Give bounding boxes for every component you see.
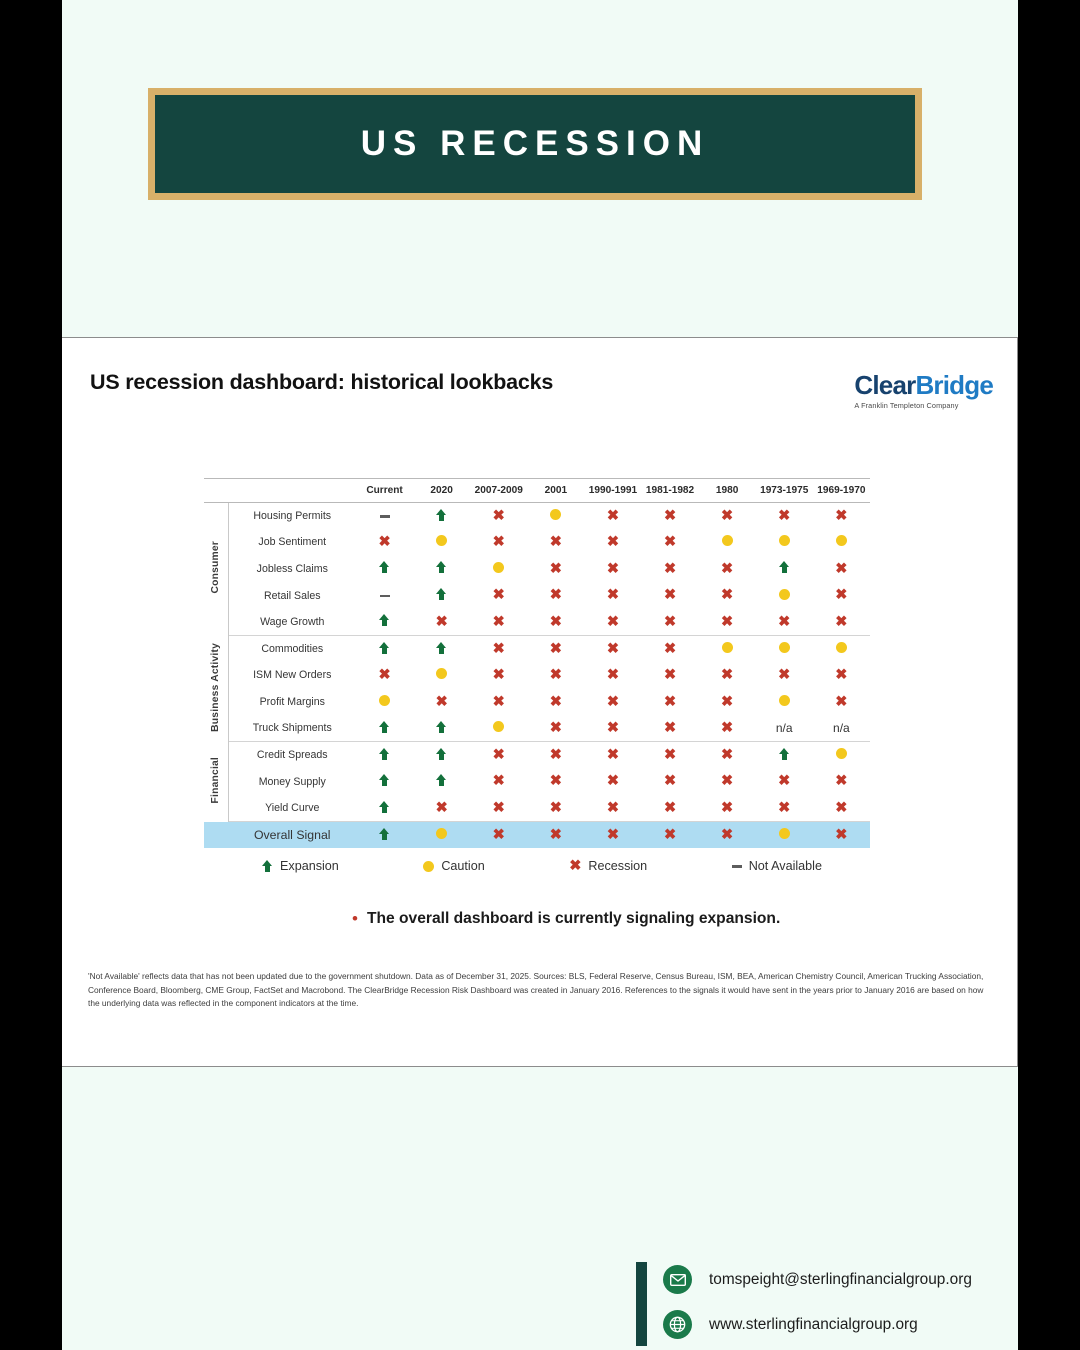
cell-2: ✖: [470, 742, 527, 769]
cell-2: ✖: [470, 609, 527, 636]
table-row: Money Supply✖✖✖✖✖✖✖: [204, 768, 870, 795]
na-label: n/a: [776, 721, 793, 735]
logo-tagline: A Franklin Templeton Company: [854, 401, 993, 410]
table-row: Retail Sales✖✖✖✖✖✖: [204, 582, 870, 609]
recession-icon: ✖: [550, 774, 562, 789]
column-header-8: 1969-1970: [813, 479, 870, 503]
overall-cell-6: ✖: [699, 822, 756, 849]
recession-icon: ✖: [550, 695, 562, 710]
cell-3: ✖: [527, 609, 584, 636]
recession-icon: ✖: [835, 695, 847, 710]
cell-8: ✖: [813, 662, 870, 689]
recession-icon: ✖: [721, 801, 733, 816]
cell-2: ✖: [470, 795, 527, 822]
na-label: n/a: [833, 721, 850, 735]
recession-icon: ✖: [778, 801, 790, 816]
row-group-business-activity: Business Activity: [204, 635, 228, 741]
column-header-7: 1973-1975: [756, 479, 813, 503]
cell-6: ✖: [699, 662, 756, 689]
cell-3: ✖: [527, 768, 584, 795]
caution-icon: [779, 828, 790, 839]
recession-icon: ✖: [436, 801, 448, 816]
table-row: Profit Margins✖✖✖✖✖✖✖: [204, 689, 870, 716]
expansion-icon: [436, 748, 447, 760]
cell-5: ✖: [641, 715, 698, 742]
caution-icon: [779, 589, 790, 600]
recession-icon: ✖: [493, 509, 505, 524]
cell-1: [413, 556, 470, 583]
indicator-label: Profit Margins: [228, 689, 356, 716]
recession-icon: ✖: [778, 668, 790, 683]
overall-cell-5: ✖: [641, 822, 698, 849]
recession-icon: ✖: [664, 801, 676, 816]
grid-header: Current20202007-200920011990-19911981-19…: [204, 479, 870, 503]
recession-icon: ✖: [664, 509, 676, 524]
globe-icon: [663, 1310, 692, 1339]
cell-7: [756, 689, 813, 716]
cell-1: [413, 662, 470, 689]
expansion-icon: [379, 774, 390, 786]
cell-6: ✖: [699, 689, 756, 716]
recession-icon: ✖: [721, 774, 733, 789]
cell-8: ✖: [813, 795, 870, 822]
cell-7: ✖: [756, 768, 813, 795]
recession-icon: ✖: [550, 535, 562, 550]
recession-icon: ✖: [607, 588, 619, 603]
cell-0: [356, 768, 413, 795]
expansion-icon: [379, 721, 390, 733]
dashboard-slide: US recession dashboard: historical lookb…: [62, 337, 1018, 1067]
recession-icon: ✖: [378, 668, 390, 683]
caution-icon: [722, 535, 733, 546]
expansion-icon: [436, 642, 447, 654]
recession-icon: ✖: [550, 642, 562, 657]
cell-2: ✖: [470, 768, 527, 795]
table-row: FinancialCredit Spreads✖✖✖✖✖: [204, 742, 870, 769]
recession-icon: ✖: [835, 509, 847, 524]
grid-header-row: Current20202007-200920011990-19911981-19…: [204, 479, 870, 503]
cell-3: ✖: [527, 742, 584, 769]
indicator-label: Job Sentiment: [228, 529, 356, 556]
recession-icon: ✖: [721, 695, 733, 710]
column-header-0: Current: [356, 479, 413, 503]
cell-6: ✖: [699, 556, 756, 583]
cell-5: ✖: [641, 795, 698, 822]
recession-icon: ✖: [378, 535, 390, 550]
overall-cell-2: ✖: [470, 822, 527, 849]
footer-rows: tomspeight@sterlingfinancialgroup.org ww…: [663, 1262, 972, 1346]
caution-icon: [493, 721, 504, 732]
cell-8: [813, 529, 870, 556]
cell-7: n/a: [756, 715, 813, 742]
cell-5: ✖: [641, 662, 698, 689]
cell-0: ✖: [356, 662, 413, 689]
cell-0: [356, 635, 413, 662]
expansion-icon: [379, 828, 390, 840]
recession-icon: ✖: [835, 588, 847, 603]
legend-label: Not Available: [749, 859, 822, 873]
recession-icon: ✖: [569, 859, 581, 874]
caution-icon: [722, 642, 733, 653]
table-row: Wage Growth✖✖✖✖✖✖✖✖: [204, 609, 870, 636]
cell-6: [699, 635, 756, 662]
recession-icon: ✖: [493, 535, 505, 550]
overall-cell-7: [756, 822, 813, 849]
recession-icon: ✖: [721, 562, 733, 577]
cell-3: ✖: [527, 715, 584, 742]
cell-4: ✖: [584, 529, 641, 556]
recession-icon: ✖: [493, 615, 505, 630]
cell-6: ✖: [699, 768, 756, 795]
row-group-label: Consumer: [210, 541, 221, 594]
cell-6: ✖: [699, 715, 756, 742]
legend-label: Recession: [588, 859, 647, 873]
recession-icon: ✖: [721, 748, 733, 763]
logo-word-part1: Clear: [854, 370, 915, 400]
cell-4: ✖: [584, 689, 641, 716]
cell-7: ✖: [756, 662, 813, 689]
cell-8: [813, 742, 870, 769]
recession-icon: ✖: [664, 828, 676, 843]
overall-cell-3: ✖: [527, 822, 584, 849]
recession-icon: ✖: [664, 615, 676, 630]
column-header-1: 2020: [413, 479, 470, 503]
logo-wordmark: ClearBridge: [854, 372, 993, 398]
column-header-6: 1980: [699, 479, 756, 503]
indicator-label: Money Supply: [228, 768, 356, 795]
row-group-label: Business Activity: [210, 643, 221, 732]
cell-6: ✖: [699, 609, 756, 636]
cell-5: ✖: [641, 768, 698, 795]
expansion-icon: [436, 561, 447, 573]
indicator-label: Jobless Claims: [228, 556, 356, 583]
caution-icon: [436, 535, 447, 546]
cell-2: ✖: [470, 503, 527, 530]
recession-icon: ✖: [436, 695, 448, 710]
recession-icon: ✖: [721, 615, 733, 630]
recession-icon: ✖: [721, 828, 733, 843]
recession-icon: ✖: [493, 695, 505, 710]
recession-icon: ✖: [607, 668, 619, 683]
not-available-icon: [380, 595, 390, 598]
cell-4: ✖: [584, 768, 641, 795]
recession-icon: ✖: [550, 588, 562, 603]
recession-icon: ✖: [493, 774, 505, 789]
recession-icon: ✖: [607, 801, 619, 816]
cell-8: ✖: [813, 503, 870, 530]
recession-icon: ✖: [607, 721, 619, 736]
table-row: ISM New Orders✖✖✖✖✖✖✖✖: [204, 662, 870, 689]
legend-item-dash: Not Available: [732, 859, 822, 873]
overall-cell-1: [413, 822, 470, 849]
cell-4: ✖: [584, 635, 641, 662]
cell-2: [470, 715, 527, 742]
cell-0: [356, 715, 413, 742]
post-title: US RECESSION: [361, 124, 710, 164]
expansion-icon: [779, 748, 790, 760]
cell-1: ✖: [413, 689, 470, 716]
cell-1: [413, 582, 470, 609]
caution-icon: [423, 861, 434, 872]
table-row: ConsumerHousing Permits✖✖✖✖✖✖: [204, 503, 870, 530]
overall-cell-4: ✖: [584, 822, 641, 849]
column-header-2: 2007-2009: [470, 479, 527, 503]
cell-6: ✖: [699, 503, 756, 530]
legend: ExpansionCaution✖RecessionNot Available: [262, 859, 822, 874]
recession-icon: ✖: [664, 721, 676, 736]
post-image: US RECESSION US recession dashboard: his…: [0, 0, 1080, 1350]
cell-1: [413, 635, 470, 662]
footnote: 'Not Available' reflects data that has n…: [88, 970, 994, 1011]
cell-8: ✖: [813, 768, 870, 795]
recession-icon: ✖: [721, 721, 733, 736]
recession-icon: ✖: [835, 615, 847, 630]
recession-icon: ✖: [664, 588, 676, 603]
cell-3: ✖: [527, 662, 584, 689]
recession-icon: ✖: [721, 668, 733, 683]
recession-icon: ✖: [493, 748, 505, 763]
cell-1: [413, 529, 470, 556]
cell-8: ✖: [813, 689, 870, 716]
cell-0: [356, 689, 413, 716]
caution-icon: [436, 828, 447, 839]
recession-icon: ✖: [664, 695, 676, 710]
cell-4: ✖: [584, 795, 641, 822]
cell-7: [756, 556, 813, 583]
legend-item-x: ✖Recession: [569, 859, 647, 874]
recession-icon: ✖: [835, 801, 847, 816]
expansion-icon: [379, 801, 390, 813]
grid-corner-group: [204, 479, 228, 503]
footer-email-row[interactable]: tomspeight@sterlingfinancialgroup.org: [663, 1265, 972, 1294]
cell-7: ✖: [756, 503, 813, 530]
expansion-icon: [436, 588, 447, 600]
recession-icon: ✖: [664, 562, 676, 577]
cell-0: ✖: [356, 529, 413, 556]
recession-dashboard-table: Current20202007-200920011990-19911981-19…: [204, 478, 870, 848]
cell-8: ✖: [813, 556, 870, 583]
overall-signal-row: Overall Signal✖✖✖✖✖✖: [204, 822, 870, 849]
recession-icon: ✖: [835, 562, 847, 577]
clearbridge-logo: ClearBridge A Franklin Templeton Company: [854, 370, 993, 410]
cell-6: ✖: [699, 795, 756, 822]
cell-8: ✖: [813, 582, 870, 609]
cell-0: [356, 556, 413, 583]
indicator-label: ISM New Orders: [228, 662, 356, 689]
footer-email[interactable]: tomspeight@sterlingfinancialgroup.org: [709, 1271, 972, 1289]
cell-4: ✖: [584, 715, 641, 742]
cell-8: ✖: [813, 609, 870, 636]
cell-4: ✖: [584, 503, 641, 530]
cell-3: ✖: [527, 556, 584, 583]
footer-website-row[interactable]: www.sterlingfinancialgroup.org: [663, 1310, 972, 1339]
expansion-icon: [379, 748, 390, 760]
cell-1: [413, 503, 470, 530]
legend-label: Expansion: [280, 859, 339, 873]
recession-icon: ✖: [607, 615, 619, 630]
cell-5: ✖: [641, 503, 698, 530]
cell-4: ✖: [584, 556, 641, 583]
recession-icon: ✖: [778, 774, 790, 789]
expansion-icon: [436, 509, 447, 521]
cell-1: ✖: [413, 795, 470, 822]
recession-icon: ✖: [835, 828, 847, 843]
cell-0: [356, 609, 413, 636]
footer-contact: tomspeight@sterlingfinancialgroup.org ww…: [636, 1262, 972, 1346]
indicator-label: Credit Spreads: [228, 742, 356, 769]
recession-icon: ✖: [664, 642, 676, 657]
cell-2: ✖: [470, 635, 527, 662]
recession-icon: ✖: [550, 801, 562, 816]
cell-5: ✖: [641, 609, 698, 636]
recession-icon: ✖: [778, 615, 790, 630]
cell-0: [356, 582, 413, 609]
cell-4: ✖: [584, 662, 641, 689]
table-row: Job Sentiment✖✖✖✖✖: [204, 529, 870, 556]
cell-3: ✖: [527, 635, 584, 662]
recession-icon: ✖: [721, 588, 733, 603]
recession-icon: ✖: [436, 615, 448, 630]
not-available-icon: [732, 865, 742, 868]
recession-icon: ✖: [607, 509, 619, 524]
expansion-icon: [436, 721, 447, 733]
recession-icon: ✖: [607, 535, 619, 550]
table-row: Yield Curve✖✖✖✖✖✖✖✖: [204, 795, 870, 822]
recession-icon: ✖: [550, 562, 562, 577]
slide-header: US recession dashboard: historical lookb…: [90, 370, 993, 410]
cell-5: ✖: [641, 529, 698, 556]
cell-6: ✖: [699, 742, 756, 769]
cell-3: [527, 503, 584, 530]
summary-bullet: • The overall dashboard is currently sig…: [352, 910, 780, 928]
column-header-4: 1990-1991: [584, 479, 641, 503]
recession-icon: ✖: [493, 828, 505, 843]
recession-icon: ✖: [550, 668, 562, 683]
recession-icon: ✖: [607, 748, 619, 763]
cell-7: ✖: [756, 609, 813, 636]
envelope-icon: [663, 1265, 692, 1294]
indicator-label: Truck Shipments: [228, 715, 356, 742]
recession-icon: ✖: [664, 668, 676, 683]
indicator-label: Retail Sales: [228, 582, 356, 609]
recession-icon: ✖: [607, 695, 619, 710]
cell-7: [756, 582, 813, 609]
cell-1: [413, 768, 470, 795]
cell-1: [413, 715, 470, 742]
recession-icon: ✖: [664, 535, 676, 550]
bullet-marker-icon: •: [352, 910, 358, 928]
cell-4: ✖: [584, 742, 641, 769]
logo-word-part2: Bridge: [915, 370, 993, 400]
overall-cell-8: ✖: [813, 822, 870, 849]
dashboard-grid: Current20202007-200920011990-19911981-19…: [204, 478, 870, 848]
recession-icon: ✖: [550, 721, 562, 736]
cell-0: [356, 795, 413, 822]
cell-4: ✖: [584, 609, 641, 636]
not-available-icon: [380, 515, 390, 518]
cell-7: [756, 742, 813, 769]
expansion-icon: [436, 774, 447, 786]
cell-5: ✖: [641, 582, 698, 609]
caution-icon: [379, 695, 390, 706]
cell-5: ✖: [641, 556, 698, 583]
cell-3: ✖: [527, 795, 584, 822]
slide-title: US recession dashboard: historical lookb…: [90, 370, 553, 395]
recession-icon: ✖: [607, 774, 619, 789]
cell-7: ✖: [756, 795, 813, 822]
overall-cell-0: [356, 822, 413, 849]
table-row: Truck Shipments✖✖✖✖n/an/a: [204, 715, 870, 742]
expansion-icon: [379, 642, 390, 654]
indicator-label: Commodities: [228, 635, 356, 662]
grid-body: ConsumerHousing Permits✖✖✖✖✖✖Job Sentime…: [204, 503, 870, 849]
recession-icon: ✖: [550, 828, 562, 843]
cell-2: ✖: [470, 582, 527, 609]
recession-icon: ✖: [721, 509, 733, 524]
cell-1: [413, 742, 470, 769]
recession-icon: ✖: [493, 801, 505, 816]
cell-4: ✖: [584, 582, 641, 609]
title-banner-inner: US RECESSION: [155, 95, 915, 193]
cell-8: n/a: [813, 715, 870, 742]
cell-3: ✖: [527, 689, 584, 716]
expansion-icon: [262, 860, 273, 872]
bullet-text: The overall dashboard is currently signa…: [367, 910, 780, 928]
legend-item-dot: Caution: [423, 859, 484, 873]
table-row: Business ActivityCommodities✖✖✖✖: [204, 635, 870, 662]
cell-3: ✖: [527, 529, 584, 556]
cell-1: ✖: [413, 609, 470, 636]
recession-icon: ✖: [835, 774, 847, 789]
indicator-label: Wage Growth: [228, 609, 356, 636]
expansion-icon: [379, 561, 390, 573]
row-group-financial: Financial: [204, 742, 228, 822]
recession-icon: ✖: [493, 588, 505, 603]
recession-icon: ✖: [607, 642, 619, 657]
caution-icon: [493, 562, 504, 573]
recession-icon: ✖: [550, 615, 562, 630]
caution-icon: [779, 695, 790, 706]
cell-2: [470, 556, 527, 583]
indicator-label: Yield Curve: [228, 795, 356, 822]
cell-5: ✖: [641, 635, 698, 662]
recession-icon: ✖: [493, 668, 505, 683]
caution-icon: [550, 509, 561, 520]
cell-7: [756, 529, 813, 556]
table-row: Jobless Claims✖✖✖✖✖: [204, 556, 870, 583]
post-canvas: US RECESSION US recession dashboard: his…: [62, 0, 1018, 1350]
cell-6: ✖: [699, 582, 756, 609]
indicator-label: Housing Permits: [228, 503, 356, 530]
overall-group-spacer: [204, 822, 228, 849]
caution-icon: [436, 668, 447, 679]
cell-6: [699, 529, 756, 556]
cell-5: ✖: [641, 742, 698, 769]
footer-website[interactable]: www.sterlingfinancialgroup.org: [709, 1316, 918, 1334]
cell-3: ✖: [527, 582, 584, 609]
recession-icon: ✖: [493, 642, 505, 657]
cell-2: ✖: [470, 529, 527, 556]
caution-icon: [836, 748, 847, 759]
expansion-icon: [779, 561, 790, 573]
cell-0: [356, 503, 413, 530]
column-header-5: 1981-1982: [641, 479, 698, 503]
recession-icon: ✖: [835, 668, 847, 683]
cell-8: [813, 635, 870, 662]
recession-icon: ✖: [550, 748, 562, 763]
row-group-consumer: Consumer: [204, 503, 228, 636]
legend-label: Caution: [441, 859, 484, 873]
